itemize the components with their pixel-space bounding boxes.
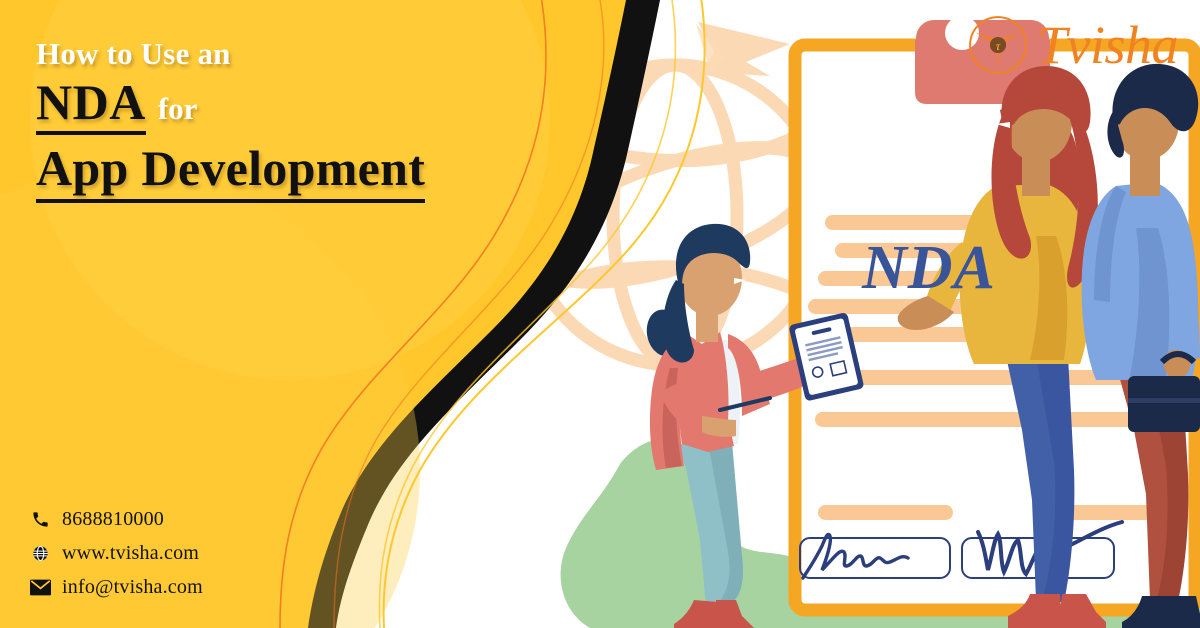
contact-row-email[interactable]: info@tvisha.com — [28, 576, 203, 599]
phone-number: 8688810000 — [62, 508, 164, 531]
tvisha-wordmark: Tvisha — [1037, 18, 1178, 72]
tvisha-tri-arrow-mark-icon: τ — [967, 14, 1029, 76]
website-url: www.tvisha.com — [62, 542, 199, 565]
headline-line-1: How to Use an — [36, 38, 556, 71]
headline-nda: NDA — [36, 74, 146, 135]
email-address: info@tvisha.com — [62, 576, 203, 599]
banner-canvas: NDA How to Use an NDAfor App Development — [0, 0, 1200, 628]
phone-icon — [28, 509, 52, 531]
headline-for: for — [158, 91, 198, 126]
tvisha-logo[interactable]: τ Tvisha — [967, 14, 1178, 76]
document-nda-title: NDA — [862, 233, 996, 304]
email-icon — [28, 577, 52, 599]
contact-info: 8688810000 www.tvisha.com info@tvisha.co… — [28, 508, 203, 610]
headline-line-2: NDAfor — [36, 77, 556, 127]
contact-row-phone[interactable]: 8688810000 — [28, 508, 203, 531]
headline-line-3: App Development — [36, 139, 425, 203]
contact-row-website[interactable]: www.tvisha.com — [28, 542, 203, 565]
globe-icon — [28, 543, 52, 565]
headline-block: How to Use an NDAfor App Development — [36, 38, 556, 203]
